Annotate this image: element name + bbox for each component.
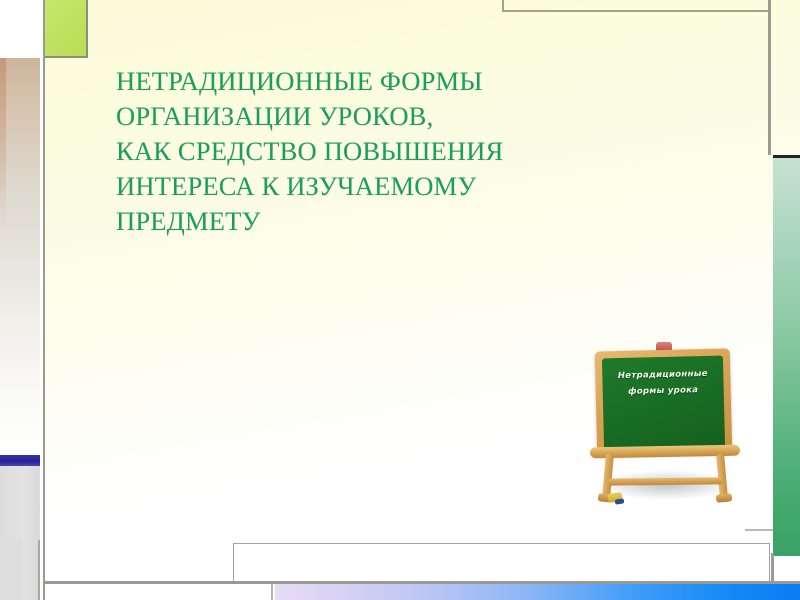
left-vertical-rule [43,0,45,600]
chalkboard-cross-brace [608,477,723,485]
left-inner-vertical-rule [38,540,40,600]
bottom-separator-rule [271,584,273,600]
top-outline-frame [502,0,770,12]
top-right-vertical-rule [768,0,771,155]
slide-canvas: НЕТРАДИЦИОННЫЕ ФОРМЫ ОРГАНИЗАЦИИ УРОКОВ,… [0,0,800,600]
eraser-tip-icon [615,498,625,504]
chalkboard-foot-right [716,493,733,503]
left-beige-strip-sheen [0,58,6,455]
left-blue-accent-bar [0,455,40,466]
green-accent-square [45,0,88,58]
chalkboard-text: Нетрадиционные формы урока [602,366,724,401]
bottom-outline-frame [233,543,770,584]
chalkboard-surface: Нетрадиционные формы урока ✎ [602,356,725,451]
left-gray-edge-sliver [0,540,22,600]
slide-title: НЕТРАДИЦИОННЫЕ ФОРМЫ ОРГАНИЗАЦИИ УРОКОВ,… [116,64,636,239]
lower-right-horizontal-rule [745,529,773,531]
right-green-panel [773,155,800,556]
chalkboard-illustration: Нетрадиционные формы урока ✎ [588,338,753,508]
bottom-blue-gradient-bar [275,584,800,600]
left-beige-strip [0,58,40,455]
